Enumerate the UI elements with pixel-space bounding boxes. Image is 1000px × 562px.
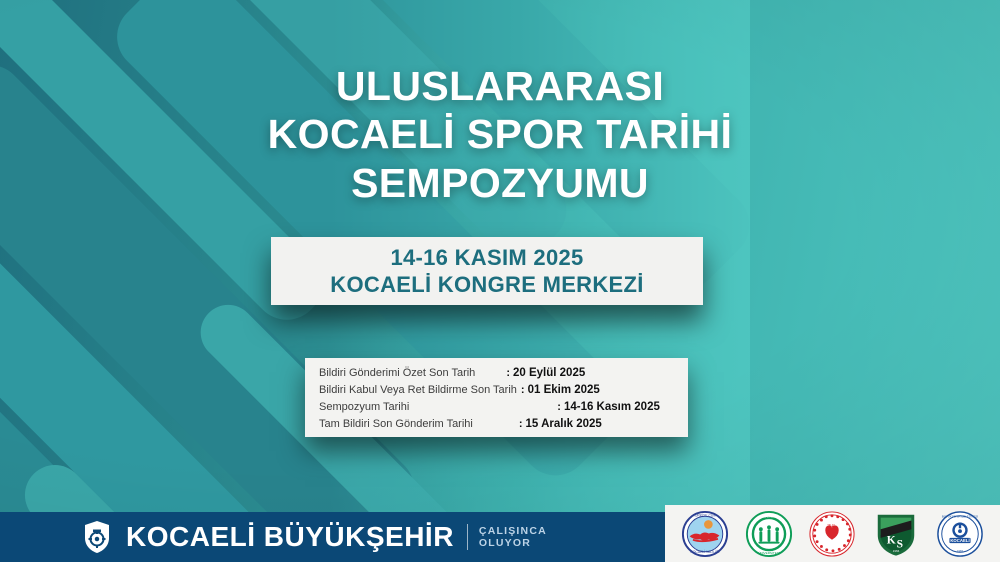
- kocaeli-governorship-seal-logo: TÜRKİYE CUM. KOCAELİ VALİLİĞİ: [681, 510, 729, 558]
- event-date: 14-16 KASIM 2025: [390, 244, 583, 272]
- deadline-label: Sempozyum Tarihi: [319, 399, 409, 415]
- deadline-value: 14-16 Kasım 2025: [564, 399, 660, 415]
- partner-logos-strip: TÜRKİYE CUM. KOCAELİ VALİLİĞİ KOCAELİ: [665, 505, 1000, 562]
- deadline-separator: :: [519, 416, 523, 432]
- svg-text:KOCAELİ VALİLİĞİ: KOCAELİ VALİLİĞİ: [690, 549, 719, 554]
- deadline-row: Bildiri Kabul Veya Ret Bildirme Son Tari…: [319, 382, 676, 398]
- kocaelispor-club-logo: K S 1966: [872, 510, 920, 558]
- event-venue: KOCAELİ KONGRE MERKEZİ: [330, 271, 643, 299]
- deadline-value: 15 Aralık 2025: [526, 416, 602, 432]
- deadline-separator: :: [557, 399, 561, 415]
- svg-text:BÜYÜKŞEHİR BELEDİYESİ: BÜYÜKŞEHİR BELEDİYESİ: [942, 513, 978, 518]
- deadline-row: Sempozyum Tarihi : 14-16 Kasım 2025: [319, 399, 676, 415]
- page-title: ULUSLARARASI KOCAELİ SPOR TARİHİ SEMPOZY…: [0, 62, 1000, 207]
- deadline-value: 20 Eylül 2025: [513, 365, 585, 381]
- svg-text:KOCAELİ: KOCAELİ: [761, 513, 776, 518]
- brand-name: KOCAELİ BÜYÜKŞEHİR: [126, 521, 454, 553]
- title-line-1: ULUSLARARASI: [120, 62, 880, 110]
- svg-text:1966: 1966: [893, 549, 900, 553]
- deadline-label: Bildiri Kabul Veya Ret Bildirme Son Tari…: [319, 382, 517, 398]
- kocaeli-metropolitan-municipality-seal-logo: KOCAELİ BÜYÜKŞEHİR BELEDİYESİ 1987: [936, 510, 984, 558]
- deadline-label: Tam Bildiri Son Gönderim Tarihi: [319, 416, 473, 432]
- brand-slogan: ÇALIŞINCA OLUYOR: [479, 525, 547, 549]
- deadlines-box: Bildiri Gönderimi Özet Son Tarih : 20 Ey…: [305, 358, 688, 437]
- deadline-separator: :: [521, 382, 525, 398]
- svg-text:T.C.: T.C.: [828, 523, 837, 529]
- svg-text:1987: 1987: [957, 549, 963, 553]
- title-line-3: SEMPOZYUMU: [120, 159, 880, 207]
- date-venue-banner: 14-16 KASIM 2025 KOCAELİ KONGRE MERKEZİ: [271, 237, 703, 305]
- title-line-2: KOCAELİ SPOR TARİHİ: [120, 110, 880, 158]
- brand-divider: [467, 524, 468, 550]
- deadline-separator: :: [506, 365, 510, 381]
- svg-text:KOCAELİ: KOCAELİ: [950, 538, 969, 543]
- poster-canvas: ULUSLARARASI KOCAELİ SPOR TARİHİ SEMPOZY…: [0, 0, 1000, 562]
- deadline-row: Bildiri Gönderimi Özet Son Tarih : 20 Ey…: [319, 365, 676, 381]
- deadline-value: 01 Ekim 2025: [528, 382, 600, 398]
- deadline-label: Bildiri Gönderimi Özet Son Tarih: [319, 365, 475, 381]
- svg-text:K: K: [887, 534, 896, 546]
- brand-slogan-line-2: OLUYOR: [479, 537, 547, 549]
- deadline-row: Tam Bildiri Son Gönderim Tarihi : 15 Ara…: [319, 416, 676, 432]
- brand-slogan-line-1: ÇALIŞINCA: [479, 525, 547, 537]
- kocaeli-municipality-emblem-icon: [82, 520, 112, 554]
- municipality-brand: KOCAELİ BÜYÜKŞEHİR ÇALIŞINCA OLUYOR: [82, 520, 547, 554]
- ministry-of-youth-and-sports-logo: T.C.: [808, 510, 856, 558]
- kocaeli-university-logo: KOCAELİ ÜNİVERSİTESİ: [745, 510, 793, 558]
- footer-bar: KOCAELİ BÜYÜKŞEHİR ÇALIŞINCA OLUYOR TÜRK…: [0, 512, 1000, 562]
- svg-text:S: S: [897, 538, 903, 550]
- svg-text:ÜNİVERSİTESİ: ÜNİVERSİTESİ: [758, 550, 780, 555]
- svg-text:TÜRKİYE CUM.: TÜRKİYE CUM.: [693, 512, 717, 517]
